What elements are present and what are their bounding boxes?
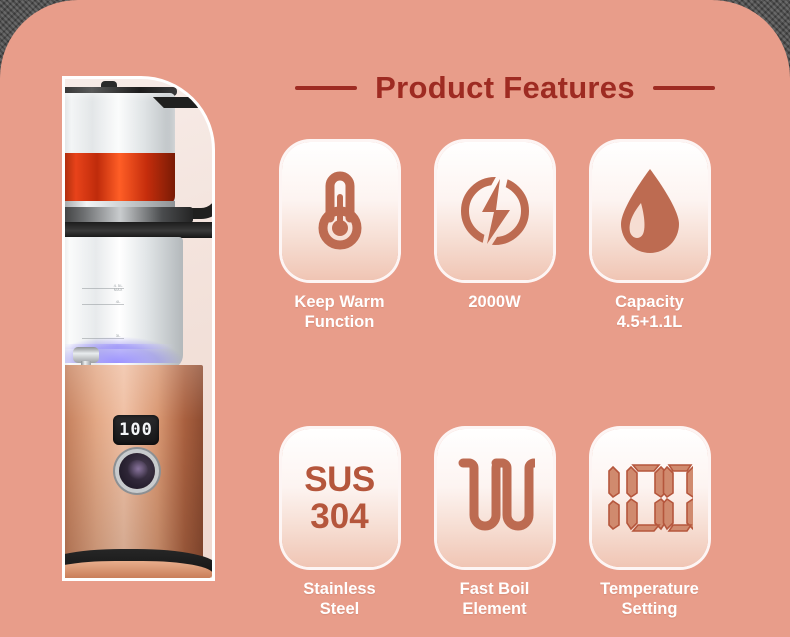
- water-level-mark-max: 4.5LMAX: [88, 283, 149, 292]
- feature-card[interactable]: [592, 429, 708, 567]
- feature-row-1: Keep Warm Function: [262, 142, 762, 332]
- feature-capacity[interactable]: Capacity 4.5+1.1L: [572, 142, 727, 332]
- feature-temperature-setting[interactable]: Temperature Setting: [572, 429, 727, 619]
- section-header: Product Features: [255, 66, 755, 110]
- feature-card[interactable]: [592, 142, 708, 280]
- heating-element-icon: [455, 457, 535, 539]
- kettle-top-shelf: [62, 222, 215, 238]
- feature-card[interactable]: [282, 142, 398, 280]
- product-features-banner: 4.5LMAX 4L 3L 100 Product Features: [0, 0, 790, 637]
- feature-label: Temperature Setting: [600, 579, 699, 619]
- feature-label: Capacity 4.5+1.1L: [615, 292, 684, 332]
- feature-keep-warm[interactable]: Keep Warm Function: [262, 142, 417, 332]
- title-rule-right: [653, 86, 715, 90]
- feature-card[interactable]: [437, 429, 553, 567]
- feature-power[interactable]: 2000W: [417, 142, 572, 332]
- sus304-icon: SUS 304: [304, 462, 374, 535]
- feature-fast-boil[interactable]: Fast Boil Element: [417, 429, 572, 619]
- teapot-handle: [153, 97, 215, 219]
- power-bolt-icon: [455, 171, 535, 251]
- page-title: Product Features: [375, 70, 635, 106]
- kettle-top-collar: [62, 207, 193, 223]
- water-drop-icon: [617, 167, 683, 255]
- feature-label: Keep Warm Function: [294, 292, 384, 332]
- feature-stainless-steel[interactable]: SUS 304 Stainless Steel: [262, 429, 417, 619]
- sus-text-top: SUS: [304, 462, 374, 498]
- product-display-value: 100: [119, 420, 153, 440]
- feature-label: Fast Boil Element: [460, 579, 530, 619]
- water-level-mark-4l: 4L: [88, 299, 149, 304]
- thermometer-icon: [307, 170, 373, 252]
- feature-card[interactable]: SUS 304: [282, 429, 398, 567]
- feature-grid: Keep Warm Function: [262, 142, 762, 582]
- feature-row-2: SUS 304 Stainless Steel Fast Boil Elemen…: [262, 429, 762, 619]
- feature-label: Stainless Steel: [303, 579, 375, 619]
- product-control-knob: [119, 453, 155, 489]
- feature-label: 2000W: [468, 292, 520, 312]
- product-digital-display: 100: [113, 415, 159, 445]
- product-base-ring: [62, 561, 213, 581]
- title-rule-left: [295, 86, 357, 90]
- digital-temperature-icon: [607, 461, 693, 535]
- sus-text-bottom: 304: [304, 499, 374, 535]
- product-image: 4.5LMAX 4L 3L 100: [62, 76, 215, 581]
- feature-card[interactable]: [437, 142, 553, 280]
